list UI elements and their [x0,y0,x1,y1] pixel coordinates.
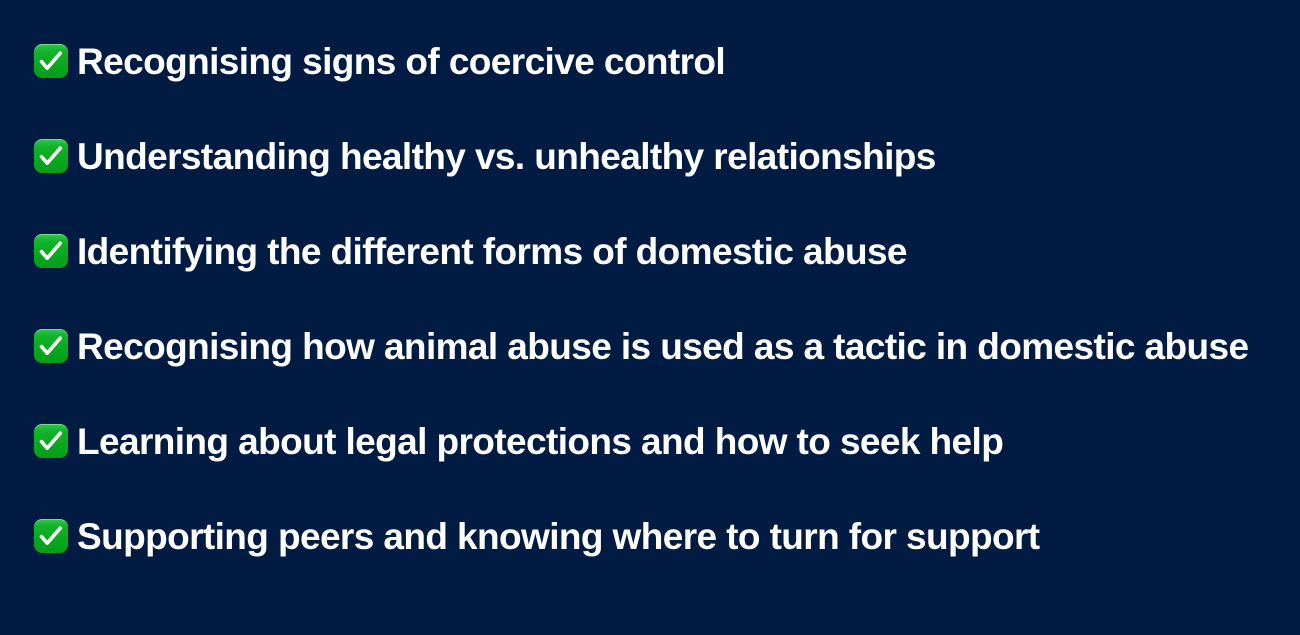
slide-canvas: Recognising signs of coercive control Un… [0,0,1300,635]
list-item-label: Supporting peers and knowing where to tu… [77,518,1039,555]
check-mark-button-icon [34,234,68,268]
list-item-label: Understanding healthy vs. unhealthy rela… [77,138,936,175]
check-mark-button-icon [34,44,68,78]
list-item-label: Learning about legal protections and how… [77,423,1003,460]
list-item: Supporting peers and knowing where to tu… [34,506,1300,566]
list-item: Identifying the different forms of domes… [34,221,1300,281]
list-item: Recognising how animal abuse is used as … [34,316,1300,376]
check-mark-button-icon [34,139,68,173]
list-item: Learning about legal protections and how… [34,411,1300,471]
check-mark-button-icon [34,424,68,458]
learning-outcomes-checklist: Recognising signs of coercive control Un… [34,31,1300,566]
list-item: Understanding healthy vs. unhealthy rela… [34,126,1300,186]
check-mark-button-icon [34,329,68,363]
list-item-label: Recognising how animal abuse is used as … [77,328,1248,365]
list-item-label: Identifying the different forms of domes… [77,233,907,270]
list-item-label: Recognising signs of coercive control [77,43,725,80]
list-item: Recognising signs of coercive control [34,31,1300,91]
check-mark-button-icon [34,519,68,553]
